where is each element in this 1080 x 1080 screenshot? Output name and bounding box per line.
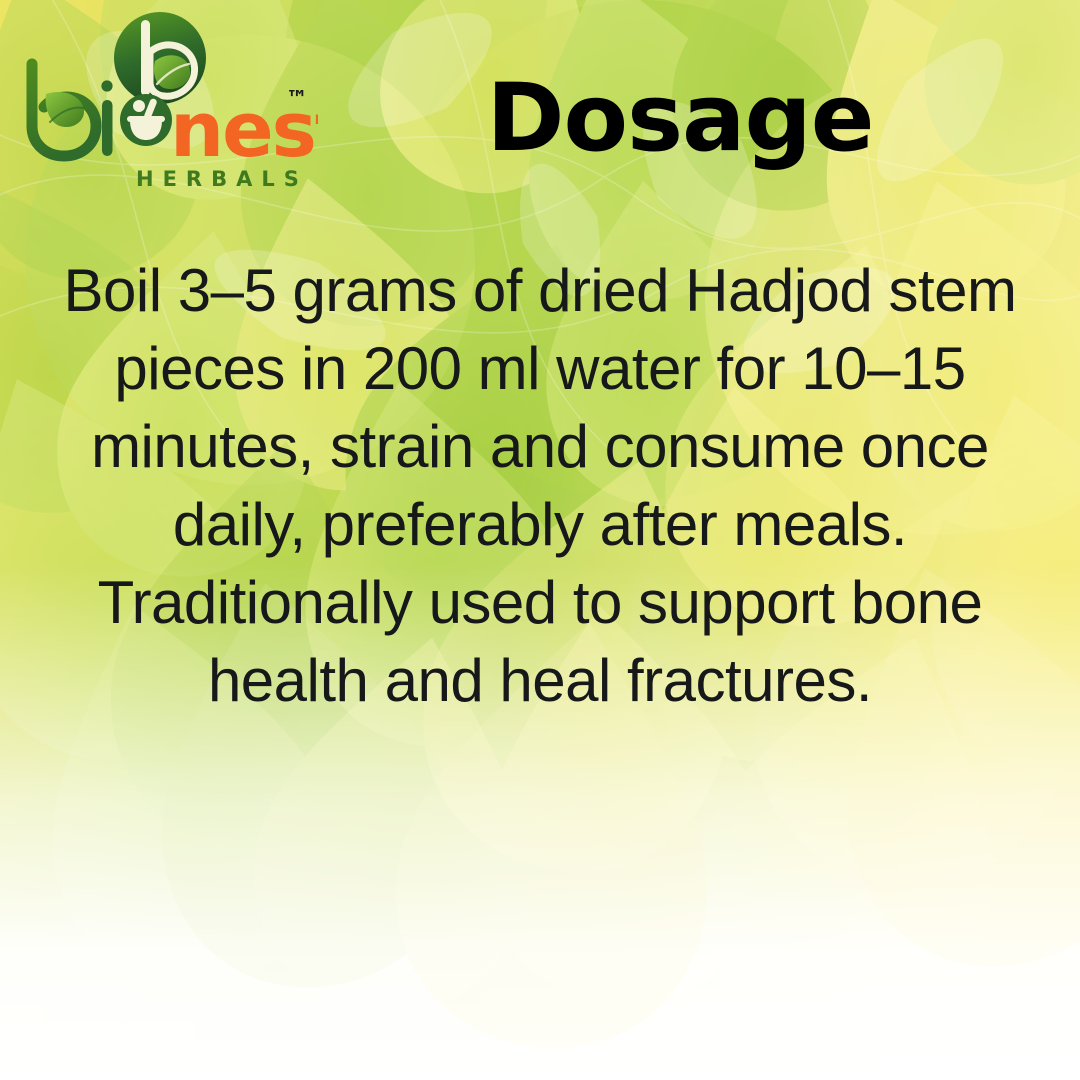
- body-line-5: Traditionally used to support bone: [24, 564, 1056, 642]
- body-line-2: pieces in 200 ml water for 10–15: [24, 330, 1056, 408]
- page-title: Dosage: [330, 72, 1030, 166]
- wordmark-letter-b: [32, 64, 96, 156]
- brand-logo[interactable]: nest ™ HERBALS: [18, 8, 318, 198]
- dosage-instructions: Boil 3–5 grams of dried Hadjod stem piec…: [24, 252, 1056, 720]
- brand-tagline: HERBALS: [136, 167, 308, 191]
- trademark-symbol: ™: [286, 87, 308, 112]
- body-line-6: health and heal fractures.: [24, 642, 1056, 720]
- body-line-4: daily, preferably after meals.: [24, 486, 1056, 564]
- body-line-3: minutes, strain and consume once: [24, 408, 1056, 486]
- poster-canvas: nest ™ HERBALS Dosage Boil 3–5 grams of …: [0, 0, 1080, 1080]
- body-line-1: Boil 3–5 grams of dried Hadjod stem: [24, 252, 1056, 330]
- mortar-and-pestle-icon: [120, 94, 172, 146]
- wordmark-letter-i: [101, 80, 112, 156]
